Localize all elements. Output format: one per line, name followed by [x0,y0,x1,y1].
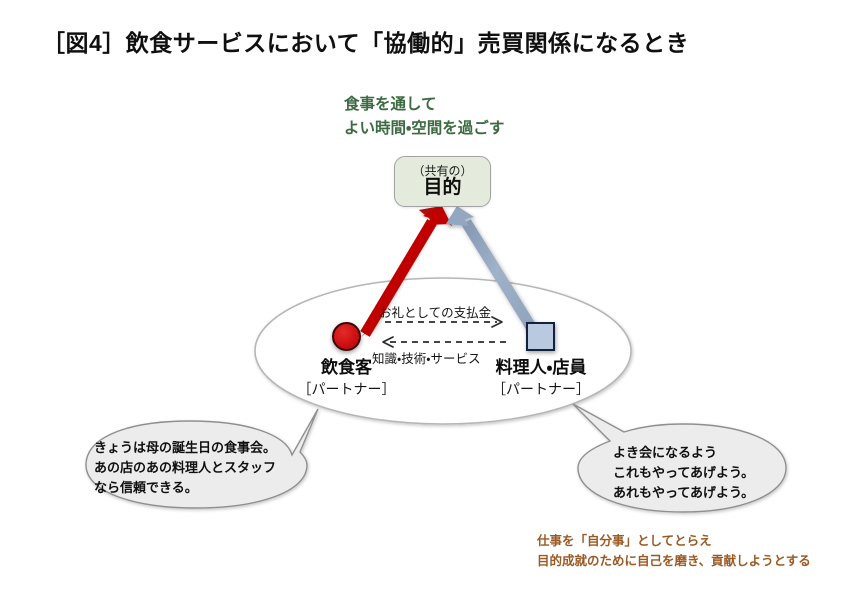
red-circle-marker [332,322,361,351]
blue-square-marker [526,322,555,351]
page-title: ［図4］飲食サービスにおいて「協働的」売買関係になるとき [42,24,689,58]
shared-goal-box: （共有の） 目的 [394,156,491,207]
goal-caption-line-1: 食事を通して [344,93,504,117]
speech-bubble-left-text: きょうは母の誕生日の食事会。 あの店のあの料理人とスタッフ なら信頼できる。 [94,438,276,498]
exchange-label-service: 知識・技術・サービス [372,348,481,367]
speech-bubble-right-text: よき会になるよう これもやってあげよう。 あれもやってあげよう。 [613,443,754,503]
customer-role: ［パートナー］ [264,380,429,399]
chef-role: ［パートナー］ [456,380,626,399]
chef-name: 料理人・店員 [456,358,626,378]
exchange-label-payment: お礼としての支払金 [379,302,491,321]
diagram-canvas: ［図4］飲食サービスにおいて「協働的」売買関係になるとき 食事を通して よい時間… [0,0,860,605]
actor-label-chef: 料理人・店員 ［パートナー］ [456,358,626,399]
goal-box-subtitle: （共有の） [412,165,472,178]
goal-caption-line-2: よい時間・空間を過ごす [344,117,504,141]
goal-caption: 食事を通して よい時間・空間を過ごす [344,93,504,140]
goal-box-title: 目的 [423,178,461,198]
bottom-note: 仕事を「自分事」としてとらえ 目的成就のために自己を磨き、貢献しようとする [537,531,811,571]
